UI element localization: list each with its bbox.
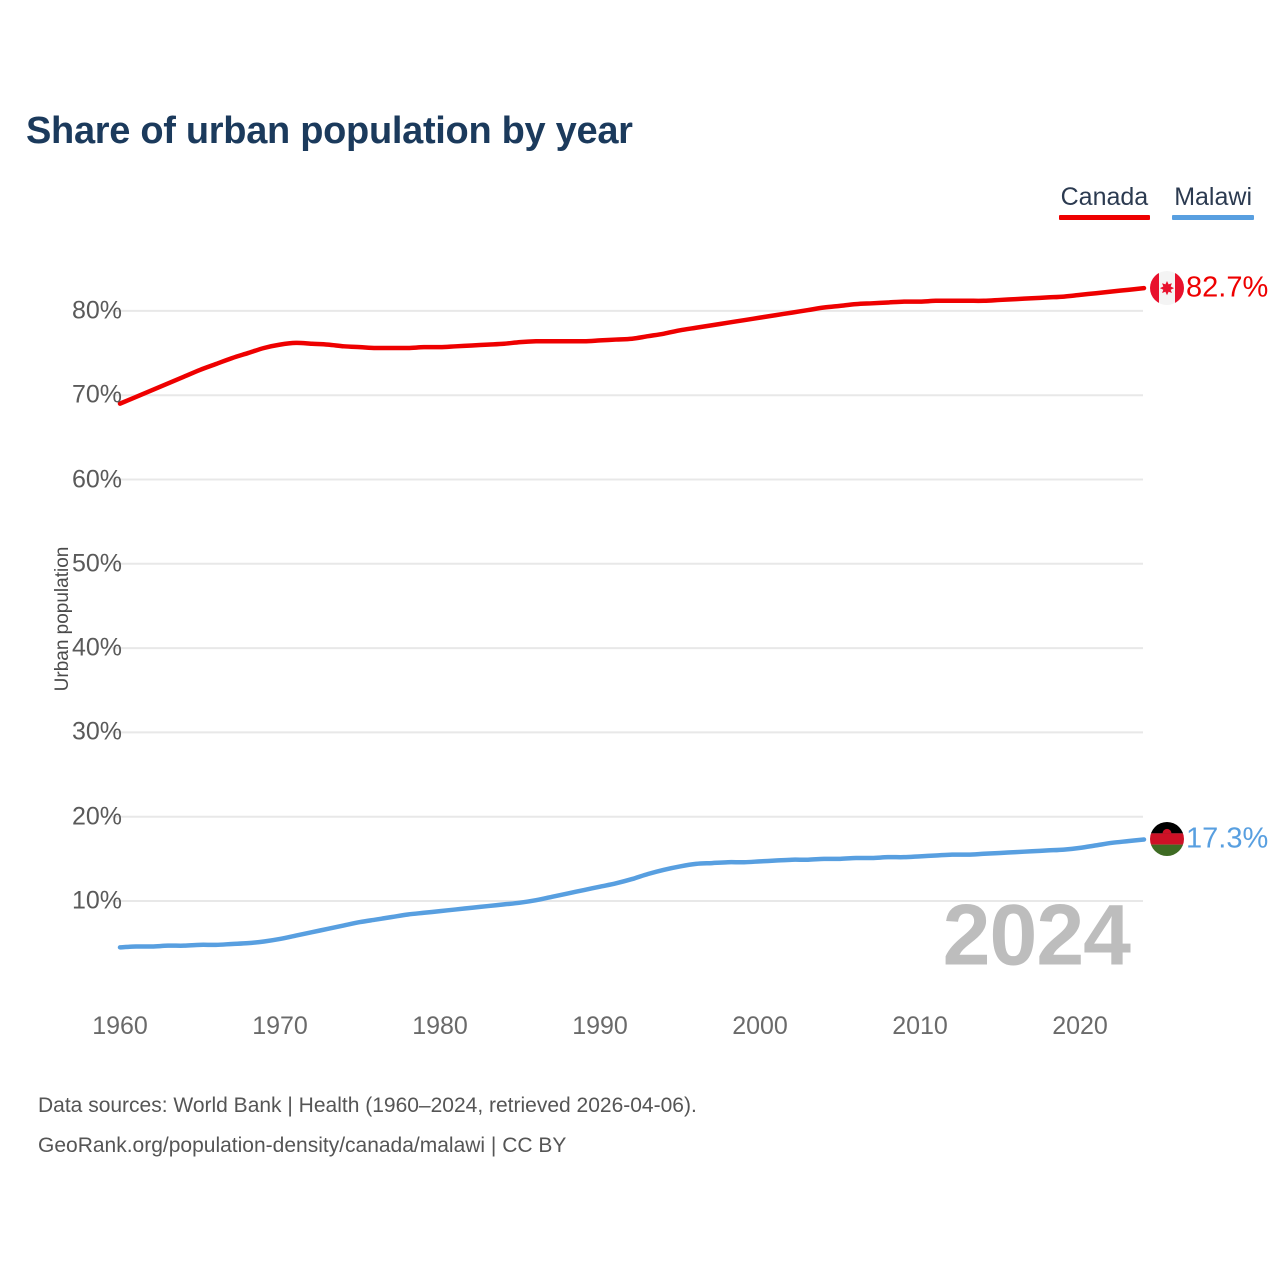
series-line-canada xyxy=(120,288,1144,403)
y-axis-tick-label: 70% xyxy=(2,381,122,410)
end-value-canada: 82.7% xyxy=(1186,272,1268,305)
end-value-malawi: 17.3% xyxy=(1186,823,1268,856)
x-axis-tick-label: 1970 xyxy=(252,1012,308,1041)
y-axis-tick-label: 20% xyxy=(2,802,122,831)
y-axis-tick-label: 30% xyxy=(2,718,122,747)
footer-attribution: GeoRank.org/population-density/canada/ma… xyxy=(38,1126,697,1166)
x-axis-tick-label: 1990 xyxy=(572,1012,628,1041)
year-watermark: 2024 xyxy=(943,887,1130,986)
urban-population-chart: Share of urban population by year Canada… xyxy=(0,0,1280,1280)
x-axis-tick-label: 1960 xyxy=(92,1012,148,1041)
footer-data-sources: Data sources: World Bank | Health (1960–… xyxy=(38,1086,697,1126)
y-axis-tick-label: 60% xyxy=(2,465,122,494)
x-axis-tick-label: 1980 xyxy=(412,1012,468,1041)
canada-flag-icon xyxy=(1150,271,1184,305)
x-axis-tick-label: 2020 xyxy=(1052,1012,1108,1041)
malawi-flag-icon xyxy=(1150,822,1184,856)
x-axis-tick-label: 2000 xyxy=(732,1012,788,1041)
chart-footer: Data sources: World Bank | Health (1960–… xyxy=(38,1086,697,1166)
y-axis-tick-label: 80% xyxy=(2,296,122,325)
y-axis-tick-label: 10% xyxy=(2,887,122,916)
y-axis-label: Urban population xyxy=(52,539,74,699)
x-axis-tick-label: 2010 xyxy=(892,1012,948,1041)
